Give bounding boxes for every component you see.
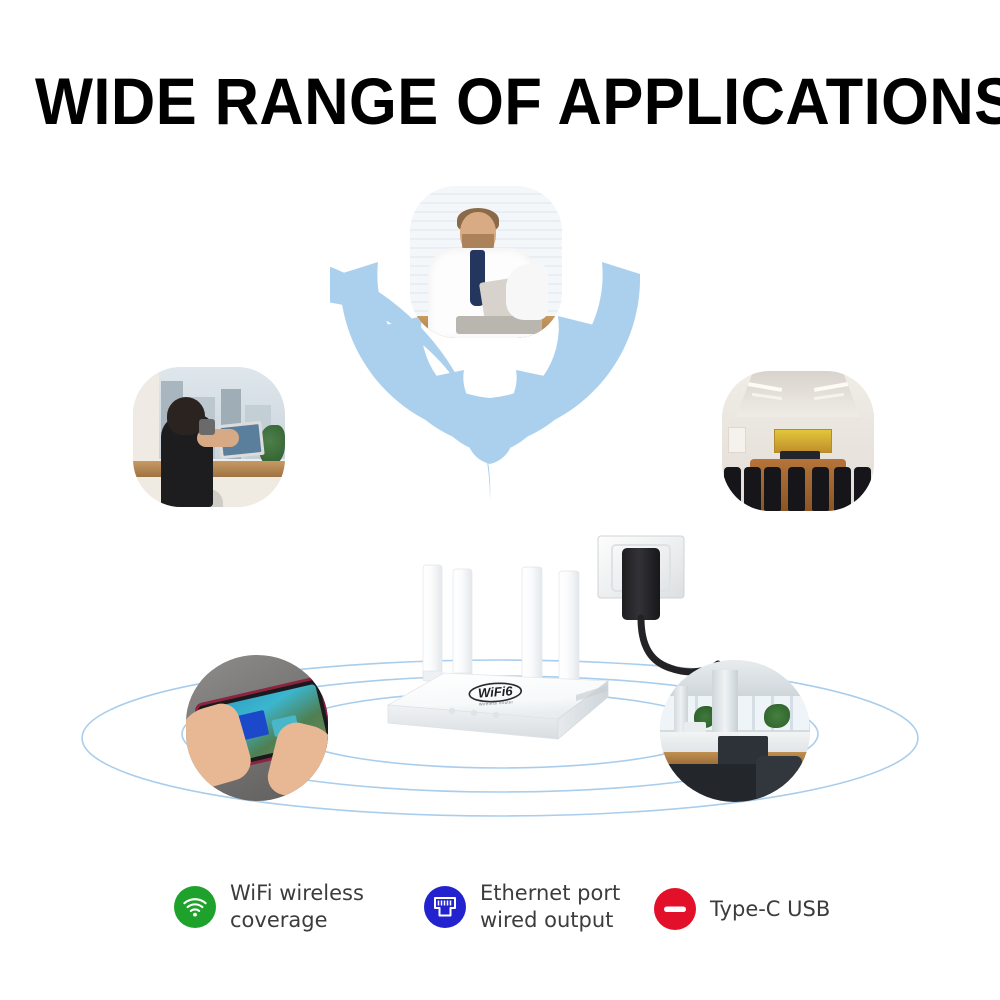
chair xyxy=(788,467,805,511)
legend-label: Ethernet port wired output xyxy=(480,880,620,934)
feature-legend: WiFi wireless coverage Ethernet port wir… xyxy=(0,880,1000,950)
scene-office-worker xyxy=(410,186,562,338)
scene-mobile-gaming xyxy=(186,655,328,801)
person-arm xyxy=(506,264,548,320)
antenna xyxy=(559,571,579,693)
wifi-icon xyxy=(174,886,216,928)
antenna xyxy=(522,567,542,689)
legend-item-wifi-coverage: WiFi wireless coverage xyxy=(174,880,364,934)
scene-conference-room xyxy=(722,371,874,511)
wall-poster xyxy=(728,427,746,453)
type-c-usb-icon xyxy=(654,888,696,930)
ethernet-port-icon xyxy=(424,886,466,928)
chair xyxy=(764,467,781,511)
chair xyxy=(812,467,829,511)
legend-item-ethernet-port: Ethernet port wired output xyxy=(424,880,620,934)
office-chair xyxy=(756,756,802,802)
svg-text:WiFi6: WiFi6 xyxy=(477,683,513,700)
legend-item-type-c-usb: Type-C USB xyxy=(654,888,830,930)
wifi-router: WiFi6 Wireless Router xyxy=(340,555,700,775)
chair xyxy=(854,467,871,511)
chair-row xyxy=(722,453,874,511)
chair xyxy=(724,467,741,511)
scene-window-workspace xyxy=(133,367,285,507)
type-c-usb-icon-glyph xyxy=(662,902,688,916)
led-indicator xyxy=(449,708,455,714)
legend-label: WiFi wireless coverage xyxy=(230,880,364,934)
plant xyxy=(764,704,790,728)
led-indicator xyxy=(471,710,477,716)
wifi-icon-glyph xyxy=(182,896,208,918)
chair xyxy=(744,467,761,511)
antenna xyxy=(423,565,442,677)
led-indicator xyxy=(493,712,499,718)
ethernet-port-icon-glyph xyxy=(432,895,458,919)
wall-painting xyxy=(774,429,832,453)
application-scene-stage: WiFi6 Wireless Router xyxy=(0,0,1000,1000)
coffee-cup xyxy=(199,419,215,435)
antenna xyxy=(453,569,472,679)
scene-open-plan-office xyxy=(660,660,810,802)
chair xyxy=(834,467,851,511)
legend-label: Type-C USB xyxy=(710,896,830,923)
